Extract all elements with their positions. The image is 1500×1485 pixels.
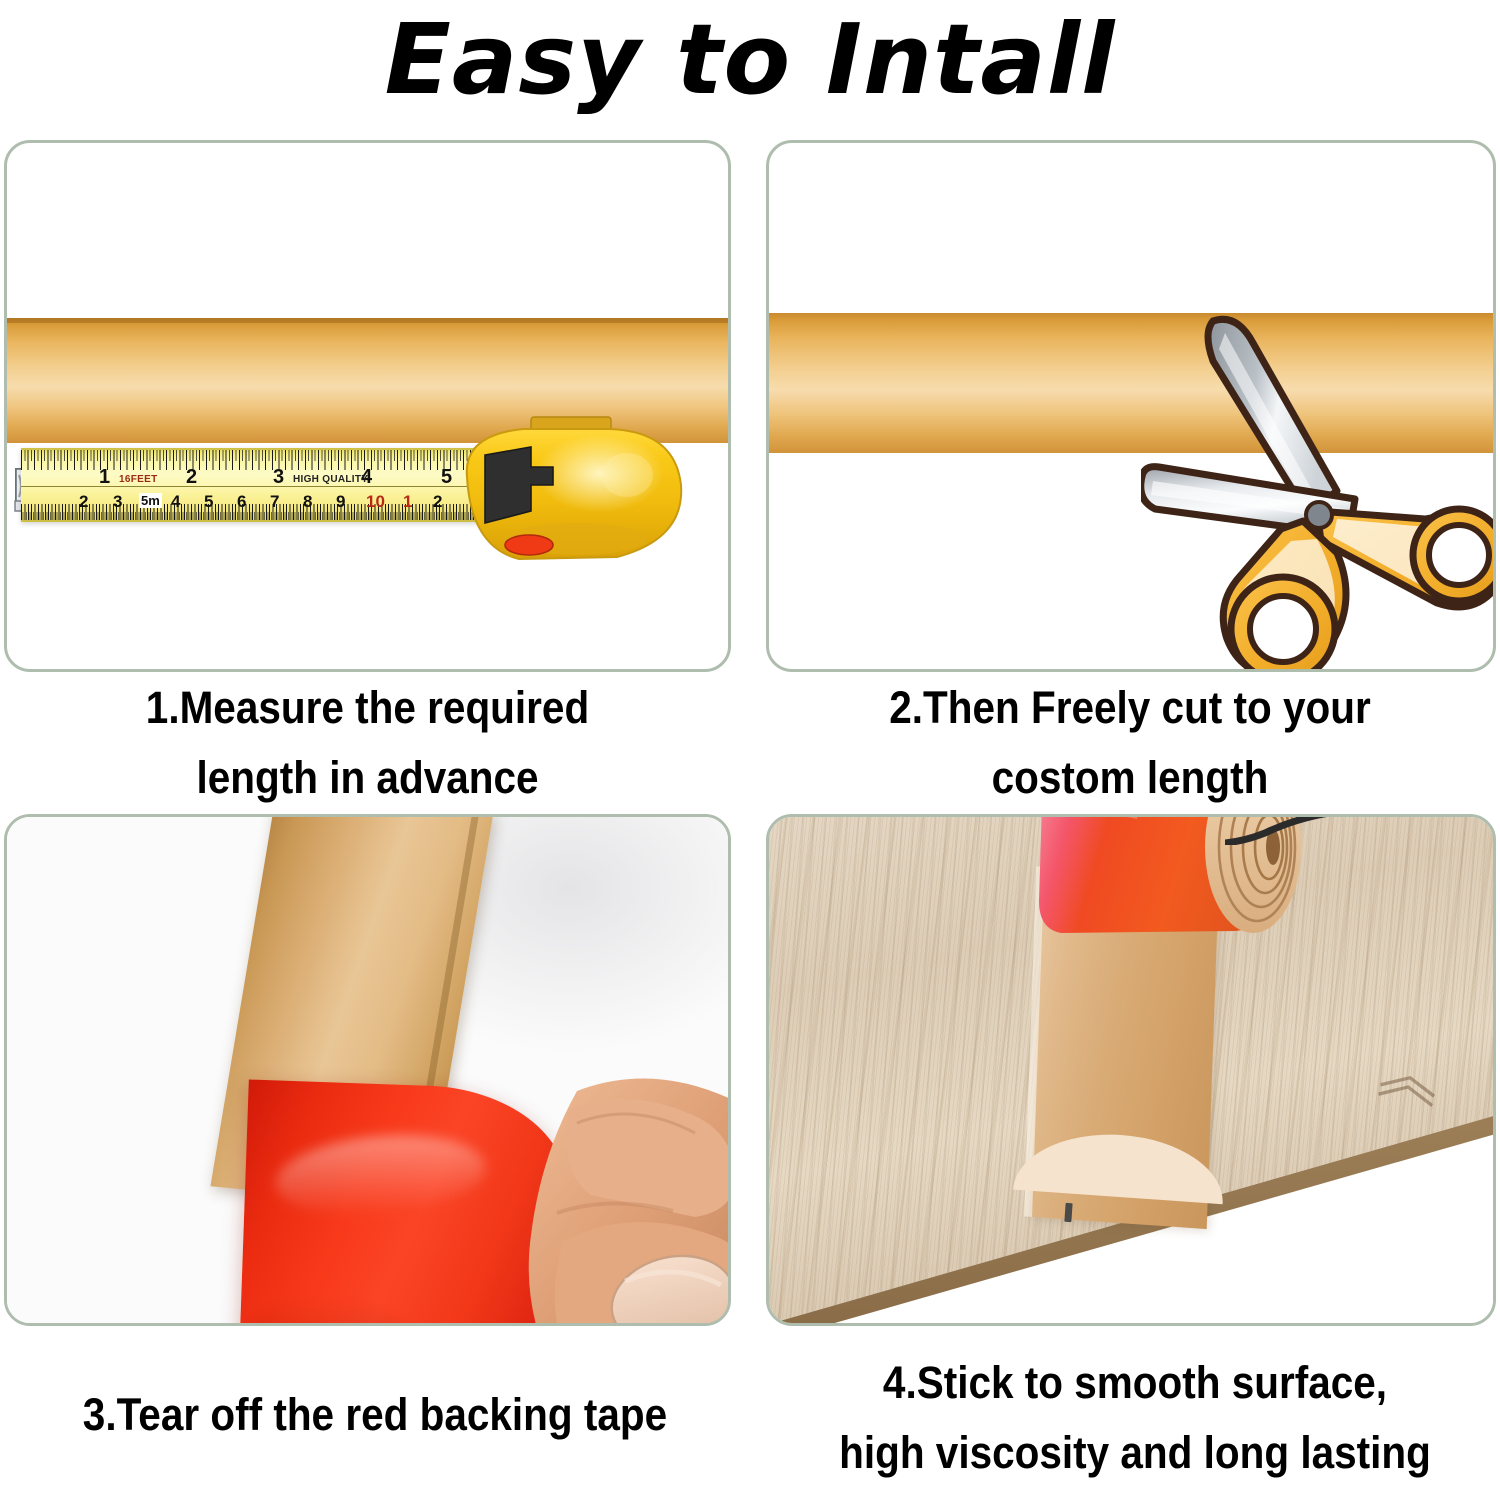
cable-edge: [1225, 814, 1345, 845]
tape-measure-case: [457, 415, 691, 575]
cm-label: 2: [79, 492, 88, 512]
red-film-highlight: [273, 1127, 489, 1223]
tape-length-metric: 5m: [139, 493, 162, 508]
cm-label: 3: [113, 492, 122, 512]
cm-label: 10: [366, 492, 385, 512]
step-panel-measure: 1 2 3 4 5 16FEET HIGH QUALITY 5m 2 3 4 5…: [4, 140, 731, 672]
step-caption-4: 4.Stick to smooth surface, high viscosit…: [807, 1348, 1464, 1485]
inch-label: 3: [273, 466, 284, 489]
caption-line: costom length: [806, 743, 1454, 813]
step-panel-peel: [4, 814, 731, 1326]
page-title: Easy to Intall: [0, 2, 1500, 122]
cm-label: 7: [270, 492, 279, 512]
tape-brand-text: HIGH QUALITY: [293, 474, 368, 485]
step-caption-1: 1.Measure the required length in advance: [46, 673, 690, 813]
cm-label: 8: [303, 492, 312, 512]
mm-ticks: [21, 512, 481, 520]
caption-line: 1.Measure the required: [46, 673, 690, 743]
board-nail-mark: [1064, 1203, 1072, 1222]
caption-line: 4.Stick to smooth surface,: [807, 1348, 1464, 1418]
step-caption-2: 2.Then Freely cut to your costom length: [806, 673, 1454, 813]
caption-line: high viscosity and long lasting: [807, 1418, 1464, 1485]
cm-label: 9: [336, 492, 345, 512]
step-panel-stick: ︽: [766, 814, 1496, 1326]
cm-label: 5: [204, 492, 213, 512]
inch-label: 5: [441, 466, 452, 489]
step-panel-cut: [766, 140, 1496, 672]
caption-line: length in advance: [46, 743, 690, 813]
cm-label: 6: [237, 492, 246, 512]
cm-label: 4: [171, 492, 180, 512]
inch-label: 2: [186, 466, 197, 489]
tape-center-line: [21, 486, 481, 487]
step-caption-3: 3.Tear off the red backing tape: [38, 1380, 713, 1450]
tape-blade: 1 2 3 4 5 16FEET HIGH QUALITY 5m 2 3 4 5…: [21, 448, 481, 522]
tape-length-imperial: 16FEET: [119, 474, 157, 485]
cm-label: 1: [403, 492, 412, 512]
scissors-icon: [1141, 303, 1496, 672]
inch-label: 1: [99, 466, 110, 489]
inch-minor-ticks: [21, 450, 481, 461]
caption-line: 3.Tear off the red backing tape: [38, 1380, 713, 1450]
hand-photo: [459, 1045, 731, 1326]
infographic-root: Easy to Intall 1 2 3 4 5 16FEET: [0, 0, 1500, 1485]
cm-label: 2: [433, 492, 442, 512]
red-film-shadow: [241, 1293, 425, 1326]
caption-line: 2.Then Freely cut to your: [806, 673, 1454, 743]
